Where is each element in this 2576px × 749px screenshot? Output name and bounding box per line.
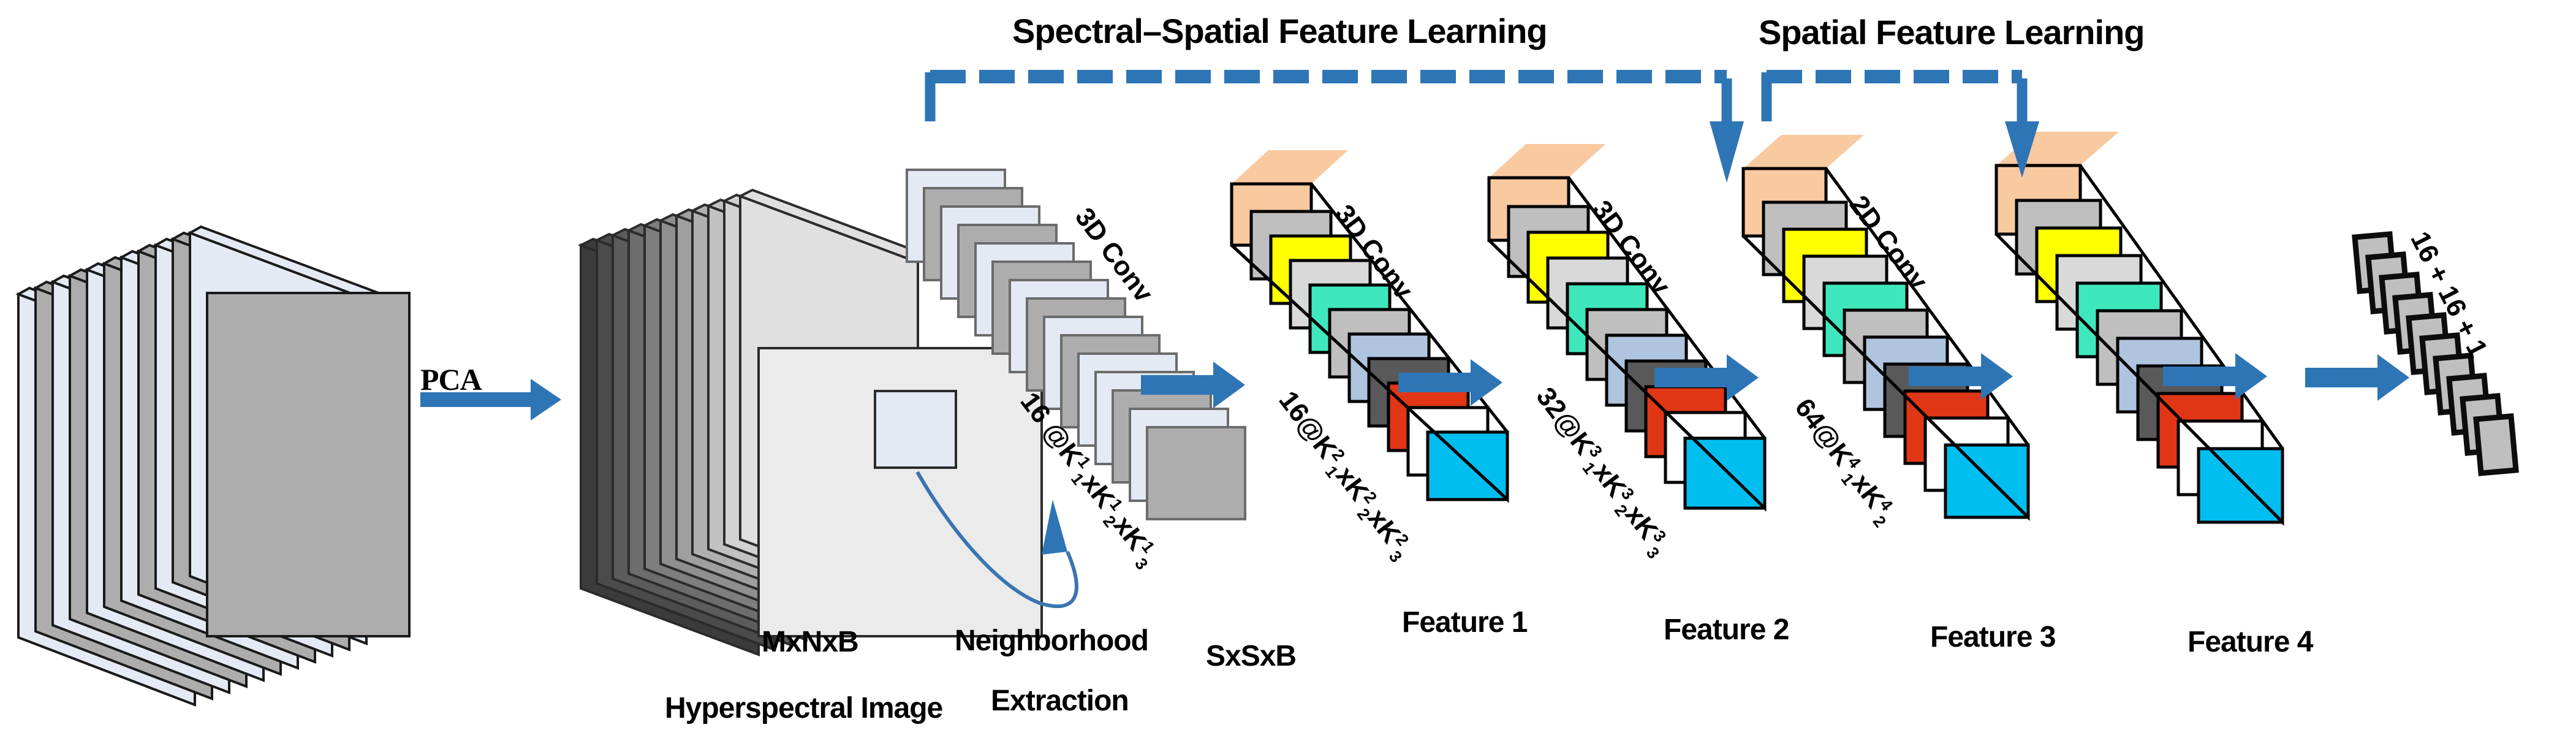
feature-block-1 [1232, 150, 1507, 500]
caption-neighborhood: Neighborhood [955, 624, 1148, 658]
pca-label: PCA [420, 362, 482, 397]
kernel-sub-3a: 1 [1578, 458, 1599, 477]
arrow-down-icon [1710, 121, 1744, 183]
feature-block-3 [1743, 135, 2028, 517]
kernel-sub-2b: 2 [1354, 504, 1374, 523]
caption-mxnxb: MxNxB [762, 625, 858, 659]
caption-feature-4: Feature 4 [2188, 625, 2313, 659]
kernel-sub-4a: 1 [1837, 470, 1858, 489]
kernel-sub-2a: 1 [1321, 462, 1342, 481]
header-spectral-spatial: Spectral–Spatial Feature Learning [1012, 11, 1547, 51]
kernel-sub-3b: 2 [1611, 501, 1632, 520]
kernel-sub-1a: 1 [1067, 470, 1088, 489]
raw-hyperspectral-cube [18, 227, 409, 705]
diagram-canvas: Spectral–Spatial Feature Learning Spatia… [0, 0, 2576, 749]
dashed-bracket-spectral-spatial [930, 72, 1744, 183]
arrow-right-icon [2305, 354, 2409, 401]
feature-block-2 [1489, 144, 1765, 508]
kernel-sub-1b: 2 [1099, 512, 1120, 531]
caption-feature-1: Feature 1 [1402, 606, 1527, 639]
feature-block-4 [1996, 132, 2282, 522]
neighborhood-patch-highlight [875, 391, 956, 468]
caption-feature-2: Feature 2 [1664, 613, 1789, 647]
caption-sxsxb: SxSxB [1206, 639, 1296, 673]
caption-extraction: Extraction [991, 684, 1129, 718]
caption-hyperspectral-image: Hyperspectral Image [665, 691, 942, 725]
header-spatial: Spatial Feature Learning [1759, 12, 2145, 52]
caption-feature-3: Feature 3 [1930, 620, 2055, 654]
